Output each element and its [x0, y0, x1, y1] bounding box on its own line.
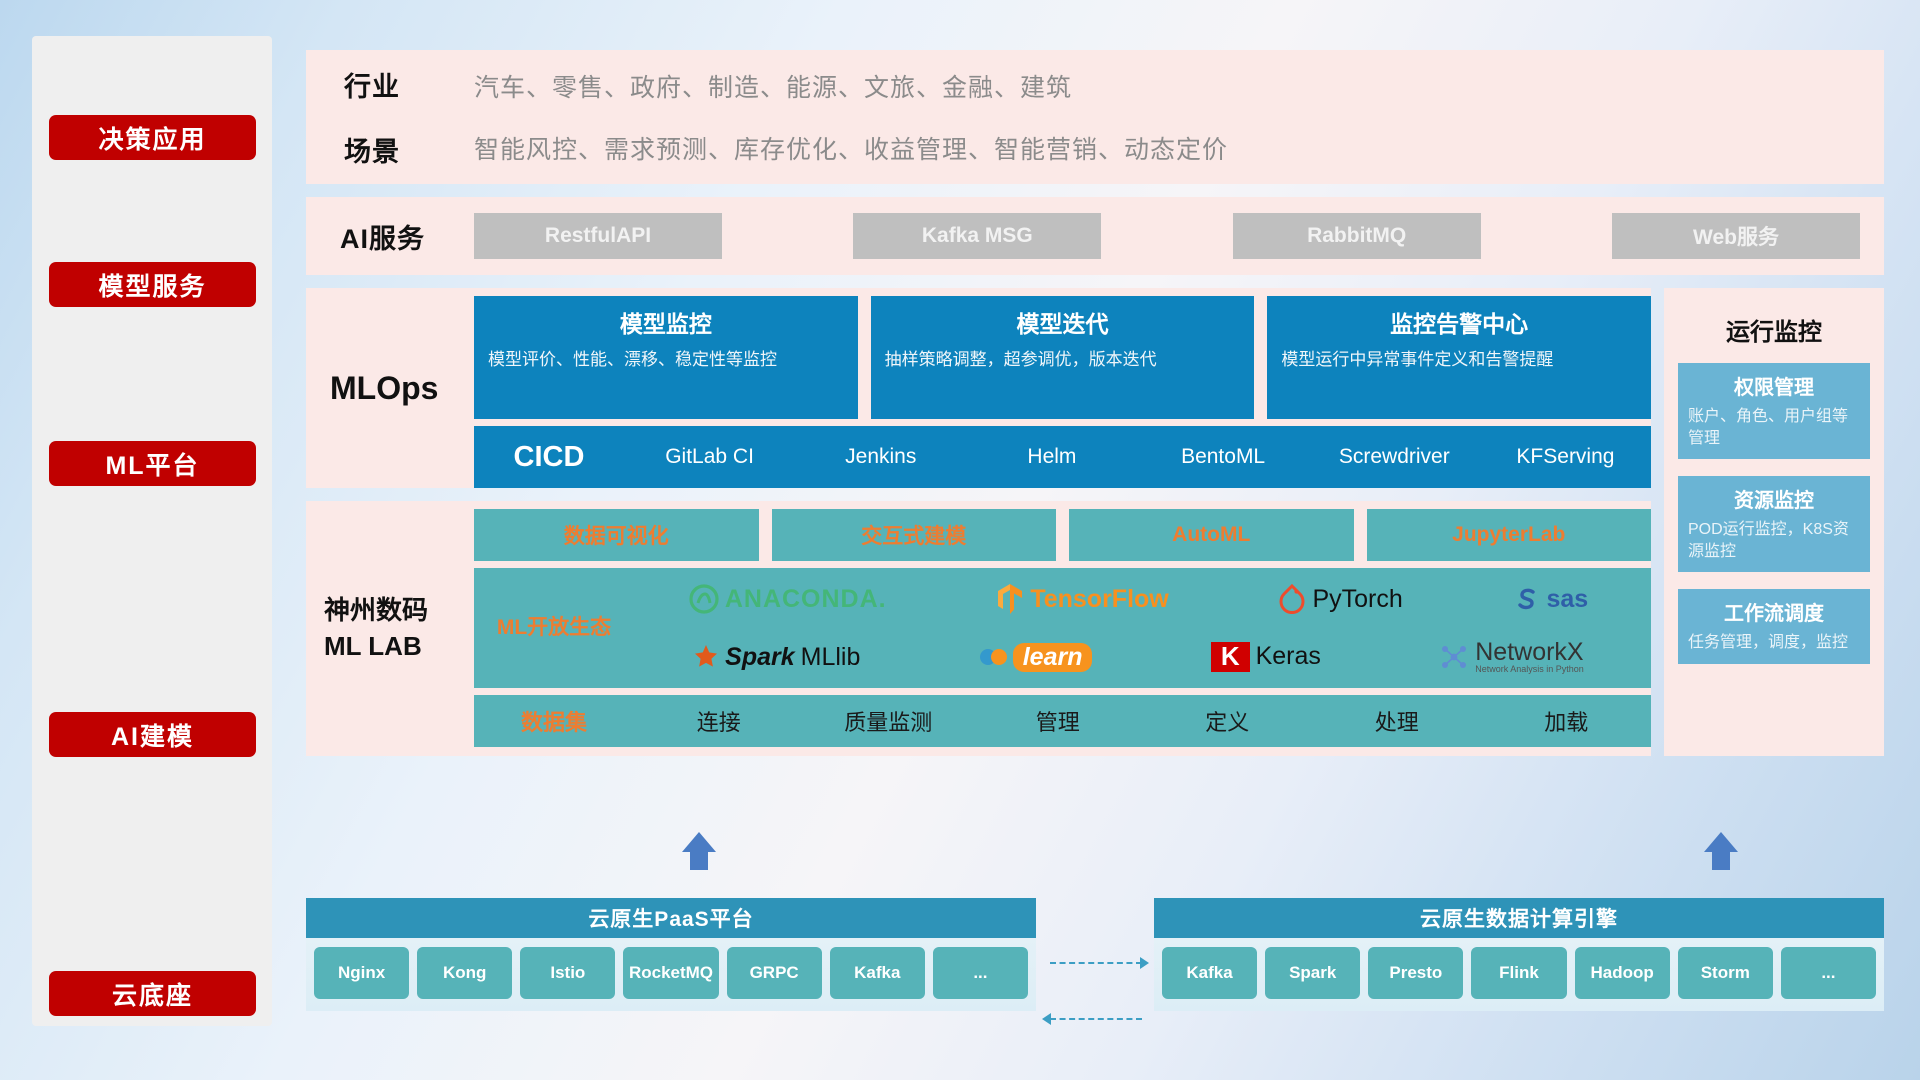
rail-label: 决策应用 — [98, 120, 206, 156]
card-desc: 抽样策略调整，超参调优，版本迭代 — [885, 348, 1241, 372]
paas-chip-more[interactable]: ... — [933, 947, 1028, 999]
ml-ecosystem-panel: ML开放生态 ANACONDA. — [474, 568, 1651, 688]
tensorflow-logo: TensorFlow — [996, 583, 1168, 615]
cicd-item-bentoml[interactable]: BentoML — [1138, 446, 1309, 468]
paas-platform-title: 云原生PaaS平台 — [306, 898, 1036, 938]
sas-logo-label: sas — [1546, 585, 1588, 614]
dataset-item-quality-monitor[interactable]: 质量监测 — [804, 705, 974, 737]
engine-chip-storm[interactable]: Storm — [1678, 947, 1773, 999]
paas-chip-nginx[interactable]: Nginx — [314, 947, 409, 999]
card-title: 权限管理 — [1688, 371, 1860, 400]
card-desc: 模型评价、性能、漂移、稳定性等监控 — [488, 348, 844, 372]
keras-logo-label: Keras — [1256, 642, 1321, 671]
layer-rail: 决策应用 模型服务 ML平台 AI建模 云底座 — [32, 36, 272, 1026]
cicd-item-jenkins[interactable]: Jenkins — [795, 446, 966, 468]
ai-service-label: AI服务 — [306, 217, 474, 256]
rail-label: 云底座 — [112, 976, 193, 1012]
arrow-up-paas-stem — [690, 850, 708, 870]
paas-chip-rocketmq[interactable]: RocketMQ — [623, 947, 718, 999]
engine-chip-hadoop[interactable]: Hadoop — [1575, 947, 1670, 999]
paas-chip-grpc[interactable]: GRPC — [727, 947, 822, 999]
rail-item-ml-platform[interactable]: ML平台 — [49, 441, 256, 486]
ml-lab-tab-group: 数据可视化 交互式建模 AutoML JupyterLab — [474, 509, 1651, 561]
rail-item-model-service[interactable]: 模型服务 — [49, 262, 256, 307]
data-compute-engine-title: 云原生数据计算引擎 — [1154, 898, 1884, 938]
engine-chip-spark[interactable]: Spark — [1265, 947, 1360, 999]
service-chip-kafka-msg[interactable]: Kafka MSG — [853, 213, 1101, 259]
mlops-card-alert-center[interactable]: 监控告警中心 模型运行中异常事件定义和告警提醒 — [1267, 296, 1651, 419]
dataset-bar: 数据集 连接 质量监测 管理 定义 处理 加载 — [474, 695, 1651, 747]
mlops-band: MLOps 模型监控 模型评价、性能、漂移、稳定性等监控 模型迭代 抽样策略调整… — [306, 288, 1651, 488]
tab-jupyterlab[interactable]: JupyterLab — [1367, 509, 1652, 561]
industry-value: 汽车、零售、政府、制造、能源、文旅、金融、建筑 — [474, 68, 1228, 104]
engine-chip-presto[interactable]: Presto — [1368, 947, 1463, 999]
cicd-title: CICD — [474, 441, 624, 474]
apps-label-group: 行业 场景 — [306, 65, 474, 169]
ecosystem-logo-row-1: ANACONDA. TensorFlow — [634, 571, 1643, 627]
pytorch-logo: PyTorch — [1278, 584, 1402, 614]
platform-split: MLOps 模型监控 模型评价、性能、漂移、稳定性等监控 模型迭代 抽样策略调整… — [306, 288, 1884, 756]
pytorch-logo-label: PyTorch — [1312, 585, 1402, 614]
data-compute-engine-box: 云原生数据计算引擎 Kafka Spark Presto Flink Hadoo… — [1154, 898, 1884, 1011]
paas-chip-group: Nginx Kong Istio RocketMQ GRPC Kafka ... — [306, 938, 1036, 1011]
cicd-item-kfserving[interactable]: KFServing — [1480, 446, 1651, 468]
anaconda-logo-label: ANACONDA. — [725, 585, 887, 614]
ml-lab-label-line2: ML LAB — [324, 629, 474, 664]
rail-item-decision-app[interactable]: 决策应用 — [49, 115, 256, 160]
industry-label: 行业 — [344, 65, 474, 104]
cicd-item-group: GitLab CI Jenkins Helm BentoML Screwdriv… — [624, 446, 1651, 468]
content-column: 行业 场景 汽车、零售、政府、制造、能源、文旅、金融、建筑 智能风控、需求预测、… — [306, 50, 1884, 756]
spark-mllib-logo: Spark MLlib — [693, 643, 860, 672]
platform-left-column: MLOps 模型监控 模型评价、性能、漂移、稳定性等监控 模型迭代 抽样策略调整… — [306, 288, 1651, 756]
ml-ecosystem-title: ML开放生态 — [474, 615, 634, 640]
mlops-content: 模型监控 模型评价、性能、漂移、稳定性等监控 模型迭代 抽样策略调整，超参调优，… — [474, 288, 1651, 488]
ai-service-band: AI服务 RestfulAPI Kafka MSG RabbitMQ Web服务 — [306, 197, 1884, 275]
cicd-item-gitlab-ci[interactable]: GitLab CI — [624, 446, 795, 468]
paas-chip-kong[interactable]: Kong — [417, 947, 512, 999]
cicd-bar: CICD GitLab CI Jenkins Helm BentoML Scre… — [474, 426, 1651, 488]
dataset-item-load[interactable]: 加载 — [1482, 705, 1652, 737]
tab-data-visualization[interactable]: 数据可视化 — [474, 509, 759, 561]
card-title: 模型监控 — [488, 305, 844, 339]
ai-modeling-band: 神州数码 ML LAB 数据可视化 交互式建模 AutoML JupyterLa… — [306, 501, 1651, 756]
card-desc: 任务管理，调度，监控 — [1688, 632, 1860, 654]
mlops-label: MLOps — [306, 288, 474, 488]
card-title: 资源监控 — [1688, 484, 1860, 513]
ecosystem-logo-row-2: Spark MLlib learn — [634, 629, 1643, 685]
engine-chip-more[interactable]: ... — [1781, 947, 1876, 999]
ml-lab-label: 神州数码 ML LAB — [306, 501, 474, 756]
card-title: 工作流调度 — [1688, 597, 1860, 626]
card-desc: 账户、角色、用户组等管理 — [1688, 406, 1860, 449]
scikit-learn-logo-label: learn — [1013, 643, 1093, 672]
service-chip-rabbitmq[interactable]: RabbitMQ — [1233, 213, 1481, 259]
dataset-item-group: 连接 质量监测 管理 定义 处理 加载 — [634, 705, 1651, 737]
dashed-connector-left — [1050, 1018, 1142, 1020]
engine-chip-kafka[interactable]: Kafka — [1162, 947, 1257, 999]
dataset-item-manage[interactable]: 管理 — [973, 705, 1143, 737]
rail-label: ML平台 — [105, 446, 199, 482]
networkx-logo: NetworkX Network Analysis in Python — [1439, 639, 1584, 675]
scenario-label: 场景 — [344, 130, 474, 169]
arrow-up-engine-icon — [1704, 832, 1738, 852]
rail-label: AI建模 — [111, 717, 194, 753]
card-title: 模型迭代 — [885, 305, 1241, 339]
arrow-up-paas-icon — [682, 832, 716, 852]
monitoring-card-resource[interactable]: 资源监控 POD运行监控，K8S资源监控 — [1678, 476, 1870, 572]
card-desc: POD运行监控，K8S资源监控 — [1688, 519, 1860, 562]
scikit-learn-logo: learn — [979, 643, 1093, 672]
networkx-logo-tagline: Network Analysis in Python — [1475, 665, 1584, 674]
paas-platform-box: 云原生PaaS平台 Nginx Kong Istio RocketMQ GRPC… — [306, 898, 1036, 1011]
arrow-up-engine-stem — [1712, 850, 1730, 870]
engine-chip-group: Kafka Spark Presto Flink Hadoop Storm ..… — [1154, 938, 1884, 1011]
dataset-item-define[interactable]: 定义 — [1143, 705, 1313, 737]
mllib-label: MLlib — [801, 643, 861, 672]
ai-service-chip-group: RestfulAPI Kafka MSG RabbitMQ Web服务 — [474, 213, 1884, 259]
runtime-monitoring-title: 运行监控 — [1678, 312, 1870, 347]
card-title: 监控告警中心 — [1281, 305, 1637, 339]
mlops-card-model-monitoring[interactable]: 模型监控 模型评价、性能、漂移、稳定性等监控 — [474, 296, 858, 419]
mlops-card-group: 模型监控 模型评价、性能、漂移、稳定性等监控 模型迭代 抽样策略调整，超参调优，… — [474, 296, 1651, 419]
dataset-item-process[interactable]: 处理 — [1312, 705, 1482, 737]
keras-mark: K — [1211, 642, 1250, 672]
mlops-card-model-iteration[interactable]: 模型迭代 抽样策略调整，超参调优，版本迭代 — [871, 296, 1255, 419]
spark-logo-label: Spark — [725, 643, 794, 672]
tensorflow-logo-label: TensorFlow — [1030, 585, 1168, 614]
card-desc: 模型运行中异常事件定义和告警提醒 — [1281, 348, 1637, 372]
monitoring-card-permission[interactable]: 权限管理 账户、角色、用户组等管理 — [1678, 363, 1870, 459]
rail-item-ai-modeling[interactable]: AI建模 — [49, 712, 256, 757]
tab-automl[interactable]: AutoML — [1069, 509, 1354, 561]
scenario-value: 智能风控、需求预测、库存优化、收益管理、智能营销、动态定价 — [474, 130, 1228, 166]
apps-value-group: 汽车、零售、政府、制造、能源、文旅、金融、建筑 智能风控、需求预测、库存优化、收… — [474, 68, 1228, 166]
keras-logo: K Keras — [1211, 642, 1321, 672]
decision-application-band: 行业 场景 汽车、零售、政府、制造、能源、文旅、金融、建筑 智能风控、需求预测、… — [306, 50, 1884, 184]
service-chip-restfulapi[interactable]: RestfulAPI — [474, 213, 722, 259]
service-chip-web[interactable]: Web服务 — [1612, 213, 1860, 259]
cloud-foundation-layer: 云原生PaaS平台 Nginx Kong Istio RocketMQ GRPC… — [306, 858, 1884, 1038]
cloud-group-row: 云原生PaaS平台 Nginx Kong Istio RocketMQ GRPC… — [306, 898, 1884, 1011]
dashed-arrow-left-icon — [1042, 1013, 1051, 1025]
dataset-title: 数据集 — [474, 705, 634, 737]
ml-ecosystem-logos: ANACONDA. TensorFlow — [634, 571, 1651, 685]
tab-interactive-modeling[interactable]: 交互式建模 — [772, 509, 1057, 561]
dataset-item-connect[interactable]: 连接 — [634, 705, 804, 737]
runtime-monitoring-panel: 运行监控 权限管理 账户、角色、用户组等管理 资源监控 POD运行监控，K8S资… — [1664, 288, 1884, 756]
rail-item-cloud-foundation[interactable]: 云底座 — [49, 971, 256, 1016]
sas-logo: sas — [1512, 585, 1588, 614]
monitoring-card-workflow[interactable]: 工作流调度 任务管理，调度，监控 — [1678, 589, 1870, 664]
cicd-item-screwdriver[interactable]: Screwdriver — [1309, 446, 1480, 468]
paas-chip-istio[interactable]: Istio — [520, 947, 615, 999]
rail-label: 模型服务 — [98, 267, 206, 303]
paas-chip-kafka[interactable]: Kafka — [830, 947, 925, 999]
anaconda-logo: ANACONDA. — [689, 584, 887, 614]
cicd-item-helm[interactable]: Helm — [966, 446, 1137, 468]
ml-lab-content: 数据可视化 交互式建模 AutoML JupyterLab ML开放生态 — [474, 501, 1651, 756]
engine-chip-flink[interactable]: Flink — [1471, 947, 1566, 999]
ml-lab-label-line1: 神州数码 — [324, 593, 474, 628]
networkx-logo-label: NetworkX — [1475, 639, 1584, 665]
architecture-diagram: 决策应用 模型服务 ML平台 AI建模 云底座 行业 场景 汽车、零售、政府、制… — [0, 0, 1920, 1080]
